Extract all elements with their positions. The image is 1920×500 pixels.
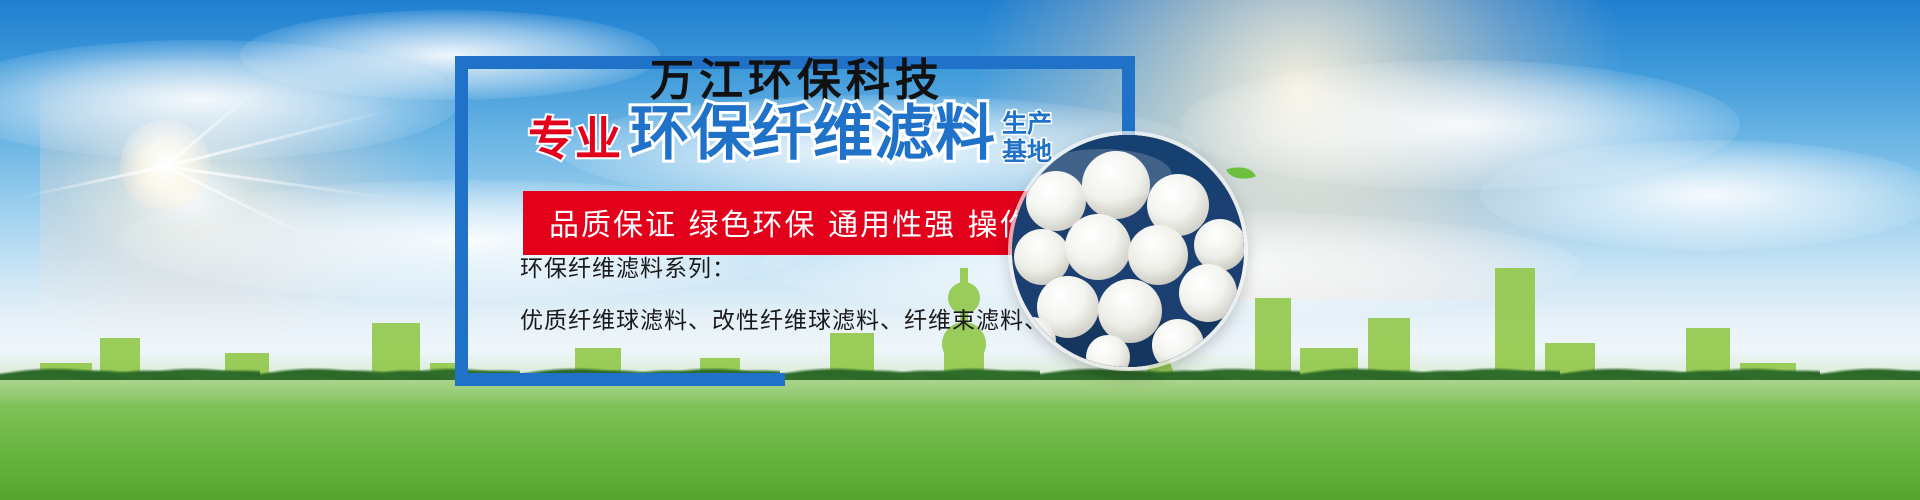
cloud xyxy=(240,10,660,100)
frame-line-left xyxy=(455,56,468,386)
leaf-icon xyxy=(1226,161,1256,184)
sun-glow-left xyxy=(40,60,460,360)
slogan-suffix-top: 生产 xyxy=(1002,111,1052,136)
cloud xyxy=(0,40,460,160)
sun-ray xyxy=(165,107,399,168)
grass-field xyxy=(0,380,1920,500)
slogan: 专业 环保纤维滤料 生产 基地 xyxy=(528,104,1052,164)
slogan-suffix: 生产 基地 xyxy=(1002,111,1052,164)
fiber-ball-product-photo xyxy=(1012,135,1244,367)
cloud xyxy=(1180,60,1740,190)
slogan-main: 环保纤维滤料 xyxy=(630,104,996,164)
cloud xyxy=(1480,140,1920,250)
frame-line-top-right xyxy=(1122,56,1135,138)
promo-banner: 万江环保科技 专业 环保纤维滤料 生产 基地 品质保证 绿色环保 通用性强 操作… xyxy=(0,0,1920,500)
slogan-suffix-bottom: 基地 xyxy=(1002,139,1052,164)
sun-icon xyxy=(120,120,210,210)
sun-ray xyxy=(164,165,327,247)
sun-ray xyxy=(18,165,165,199)
sun-ray xyxy=(165,165,403,201)
slogan-prefix: 专业 xyxy=(528,116,622,162)
sun-ray xyxy=(164,82,266,168)
